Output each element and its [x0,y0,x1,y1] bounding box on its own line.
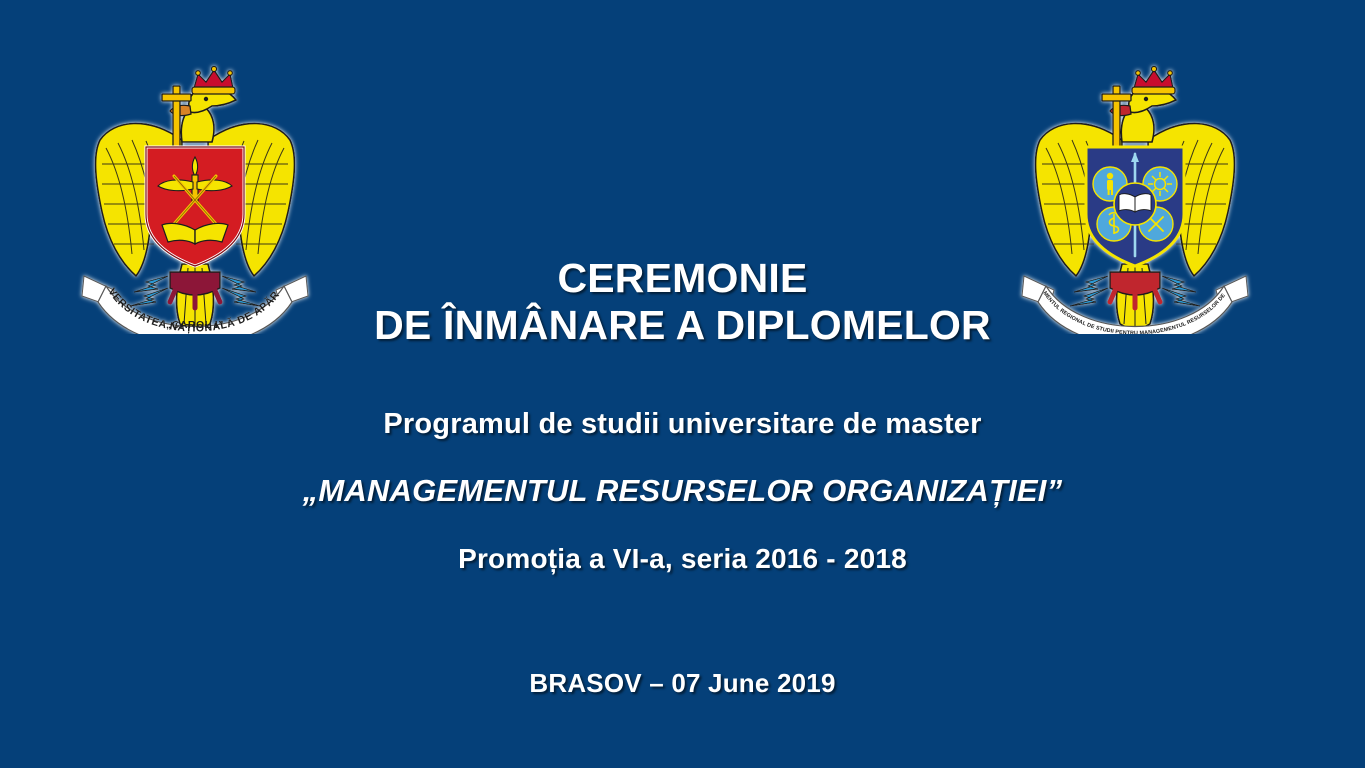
program-name: „MANAGEMENTUL RESURSELOR ORGANIZAȚIEI” [0,473,1365,509]
program-label: Programul de studii universitare de mast… [0,408,1365,441]
location-date: BRASOV – 07 June 2019 [0,668,1365,699]
page-title-line-1: CEREMONIE [0,255,1365,302]
page-title-line-2: DE ÎNMÂNARE A DIPLOMELOR [0,302,1365,349]
promotion-line: Promoția a VI-a, seria 2016 - 2018 [0,543,1365,575]
ceremony-title-slide: UNIVERSITATEA NAȚIONALĂ DE APĂRARE „CARO… [0,0,1365,768]
slide-text-block: CEREMONIE DE ÎNMÂNARE A DIPLOMELOR Progr… [0,0,1365,768]
